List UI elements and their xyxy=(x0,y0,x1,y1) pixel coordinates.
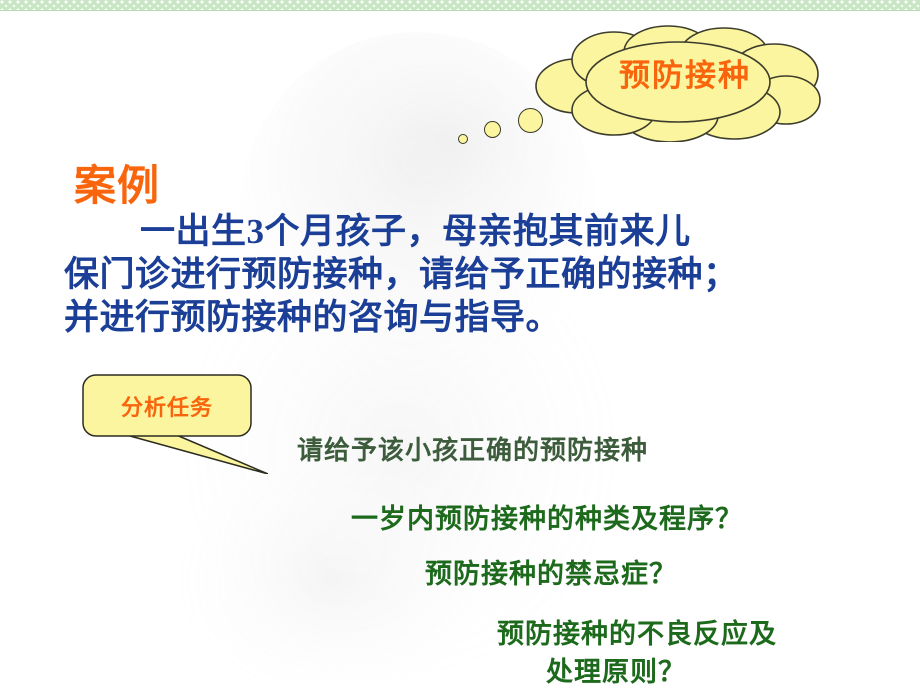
case-body-text: 一出生3个月孩子，母亲抱其前来儿 保门诊进行预防接种，请给予正确的接种； 并进行… xyxy=(64,210,904,339)
question-line-2: 一岁内预防接种的种类及程序？ xyxy=(351,497,743,536)
slide-canvas: 预防接种 案例 一出生3个月孩子，母亲抱其前来儿 保门诊进行预防接种，请给予正确… xyxy=(0,0,920,690)
question-line-4: 预防接种的不良反应及 xyxy=(497,612,777,651)
case-body-line-2: 保门诊进行预防接种，请给予正确的接种； xyxy=(64,255,739,294)
thought-cloud-label: 预防接种 xyxy=(595,50,775,95)
thought-dot-medium xyxy=(484,121,501,138)
callout-label: 分析任务 xyxy=(82,390,252,422)
question-line-3: 预防接种的禁忌症？ xyxy=(425,552,677,591)
thought-dot-small xyxy=(458,134,468,144)
case-body-line-1: 一出生3个月孩子，母亲抱其前来儿 xyxy=(140,212,691,251)
case-body-line-3: 并进行预防接种的咨询与指导。 xyxy=(64,298,561,337)
question-line-1: 请给予该小孩正确的预防接种 xyxy=(297,430,648,467)
thought-dot-large xyxy=(518,108,543,133)
question-line-5: 处理原则？ xyxy=(546,650,686,689)
callout-bubble-shape xyxy=(82,374,268,474)
case-heading: 案例 xyxy=(74,152,160,213)
top-decorative-band xyxy=(0,0,920,11)
